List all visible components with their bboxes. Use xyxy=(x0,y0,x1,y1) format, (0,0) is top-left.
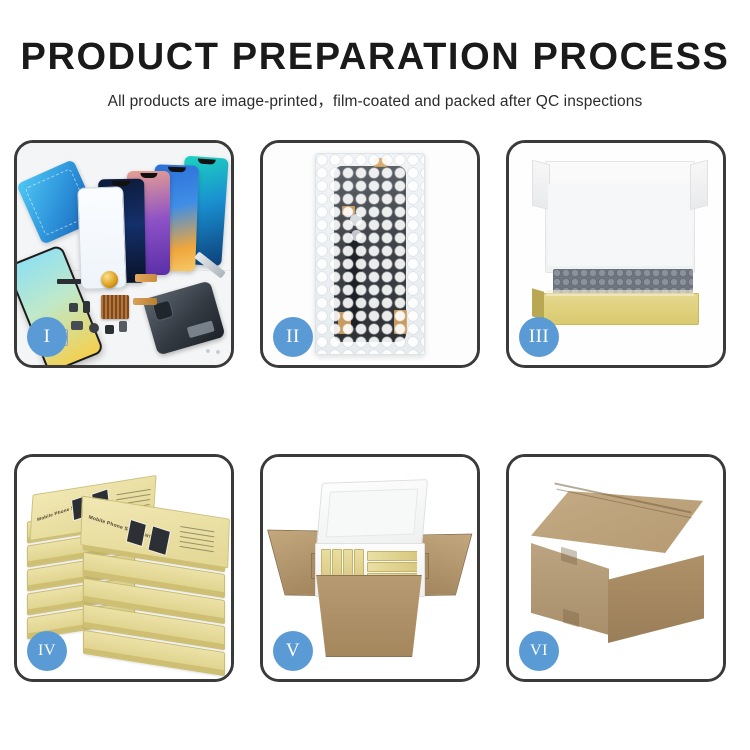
foam-lid xyxy=(316,479,428,549)
step-badge-1-label: I xyxy=(44,326,51,348)
small-part-2 xyxy=(83,301,90,313)
step-badge-6-label: VI xyxy=(530,642,548,660)
step-panel-2[interactable]: II xyxy=(260,140,480,368)
flex-cable-b xyxy=(133,298,157,305)
step-badge-6: VI xyxy=(519,631,559,671)
bubble-wrap-bag xyxy=(315,153,425,355)
step-panel-3[interactable]: III xyxy=(506,140,726,368)
step-badge-5-label: V xyxy=(286,640,300,662)
page-title: PRODUCT PREPARATION PROCESS xyxy=(0,38,750,76)
small-part-3 xyxy=(71,321,83,330)
step-panel-5[interactable]: V xyxy=(260,454,480,682)
step-badge-5: V xyxy=(273,631,313,671)
step-panel-6[interactable]: VI xyxy=(506,454,726,682)
small-part-5 xyxy=(105,325,114,334)
small-part-6 xyxy=(119,321,127,332)
bubble-texture xyxy=(316,154,424,354)
box-screen-image-4 xyxy=(147,525,171,556)
small-part-1 xyxy=(69,303,78,312)
step-badge-2: II xyxy=(273,317,313,357)
step-badge-1: I xyxy=(27,317,67,357)
process-steps-grid: I II xyxy=(14,140,736,682)
yellow-box-base xyxy=(541,293,699,325)
step-panel-1[interactable]: I xyxy=(14,140,234,368)
page-root: PRODUCT PREPARATION PROCESS All products… xyxy=(0,0,750,750)
carton-body xyxy=(309,575,429,657)
step-panel-4[interactable]: Mobile Phone Spare Parts xyxy=(14,454,234,682)
coil-component xyxy=(101,271,118,288)
flex-cable-a xyxy=(135,274,157,282)
copper-grid-component xyxy=(101,295,129,319)
step-badge-3: III xyxy=(519,317,559,357)
foam-sheet xyxy=(548,184,692,266)
screws-group xyxy=(205,347,223,355)
step-badge-2-label: II xyxy=(286,326,300,348)
page-subtitle: All products are image-printed，film-coat… xyxy=(0,76,750,111)
box-screen-image-3 xyxy=(126,519,147,547)
small-part-4 xyxy=(89,323,99,333)
white-box-lid xyxy=(545,161,695,273)
step-badge-4-label: IV xyxy=(38,642,56,660)
step-badge-4: IV xyxy=(27,631,67,671)
speaker-component xyxy=(57,279,81,284)
page-header: PRODUCT PREPARATION PROCESS All products… xyxy=(0,0,750,111)
step-badge-3-label: III xyxy=(529,326,549,348)
